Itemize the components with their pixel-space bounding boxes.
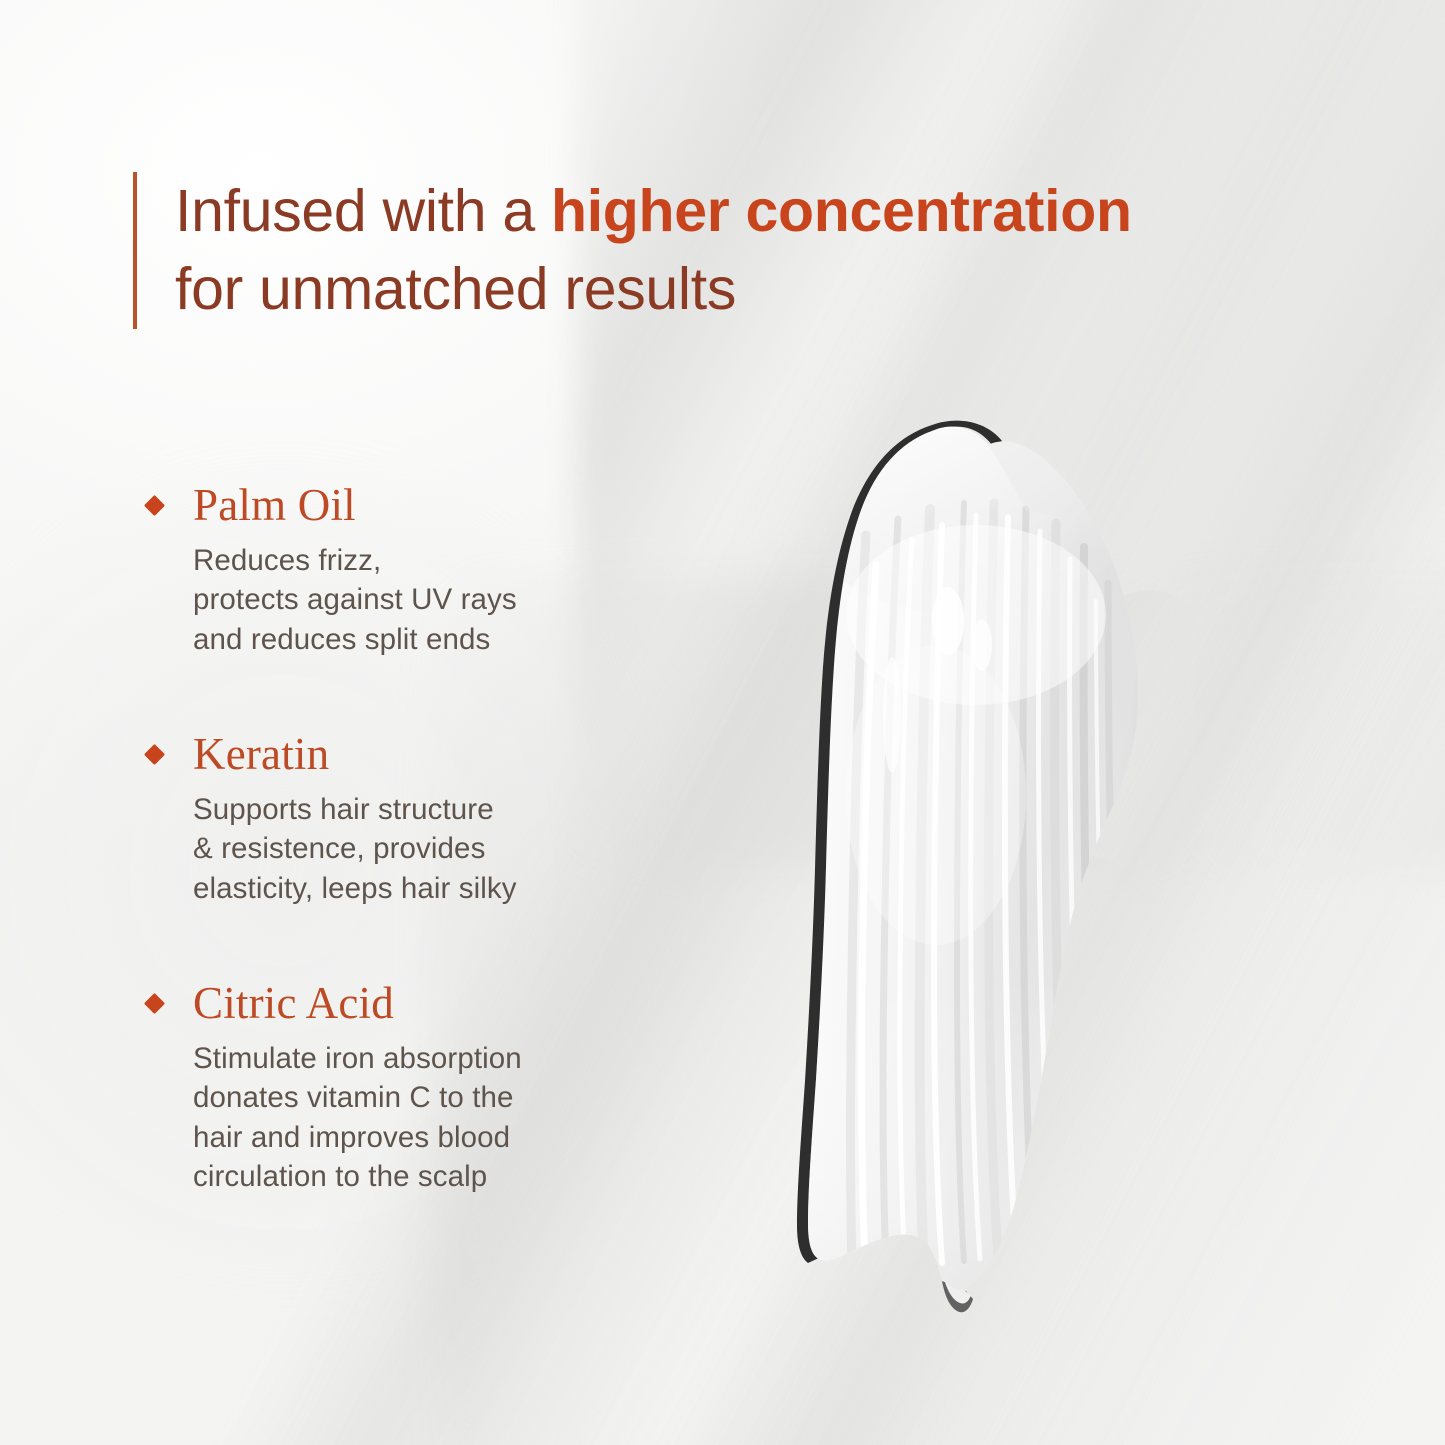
- ingredient-description: Stimulate iron absorption donates vitami…: [193, 1039, 617, 1196]
- ingredient-description: Supports hair structure & resistence, pr…: [193, 790, 617, 908]
- ingredient-item-keratin: Keratin Supports hair structure & resist…: [147, 731, 617, 908]
- diamond-bullet-icon: [144, 495, 165, 516]
- cream-swatch-svg: [726, 415, 1196, 1340]
- headline-line1-emphasis: higher concentration: [551, 178, 1132, 244]
- diamond-bullet-icon: [144, 993, 165, 1014]
- ingredient-list: Palm Oil Reduces frizz, protects against…: [147, 482, 617, 1196]
- ingredient-name: Palm Oil: [193, 482, 356, 529]
- ingredient-heading: Keratin: [147, 731, 617, 778]
- page-title: Infused with a higher concentration for …: [175, 172, 1132, 329]
- headline-line1-prefix: Infused with a: [175, 178, 551, 244]
- cream-swatch-image: [726, 415, 1196, 1340]
- headline-block: Infused with a higher concentration for …: [133, 172, 1132, 329]
- infographic-page: Infused with a higher concentration for …: [0, 0, 1445, 1445]
- headline-line2: for unmatched results: [175, 256, 736, 322]
- ingredient-heading: Palm Oil: [147, 482, 617, 529]
- ingredient-name: Keratin: [193, 731, 329, 778]
- diamond-bullet-icon: [144, 744, 165, 765]
- ingredient-name: Citric Acid: [193, 980, 394, 1027]
- ingredient-item-citric-acid: Citric Acid Stimulate iron absorption do…: [147, 980, 617, 1196]
- ingredient-heading: Citric Acid: [147, 980, 617, 1027]
- ingredient-description: Reduces frizz, protects against UV rays …: [193, 541, 617, 659]
- headline-accent-bar: [133, 172, 137, 329]
- ingredient-item-palm-oil: Palm Oil Reduces frizz, protects against…: [147, 482, 617, 659]
